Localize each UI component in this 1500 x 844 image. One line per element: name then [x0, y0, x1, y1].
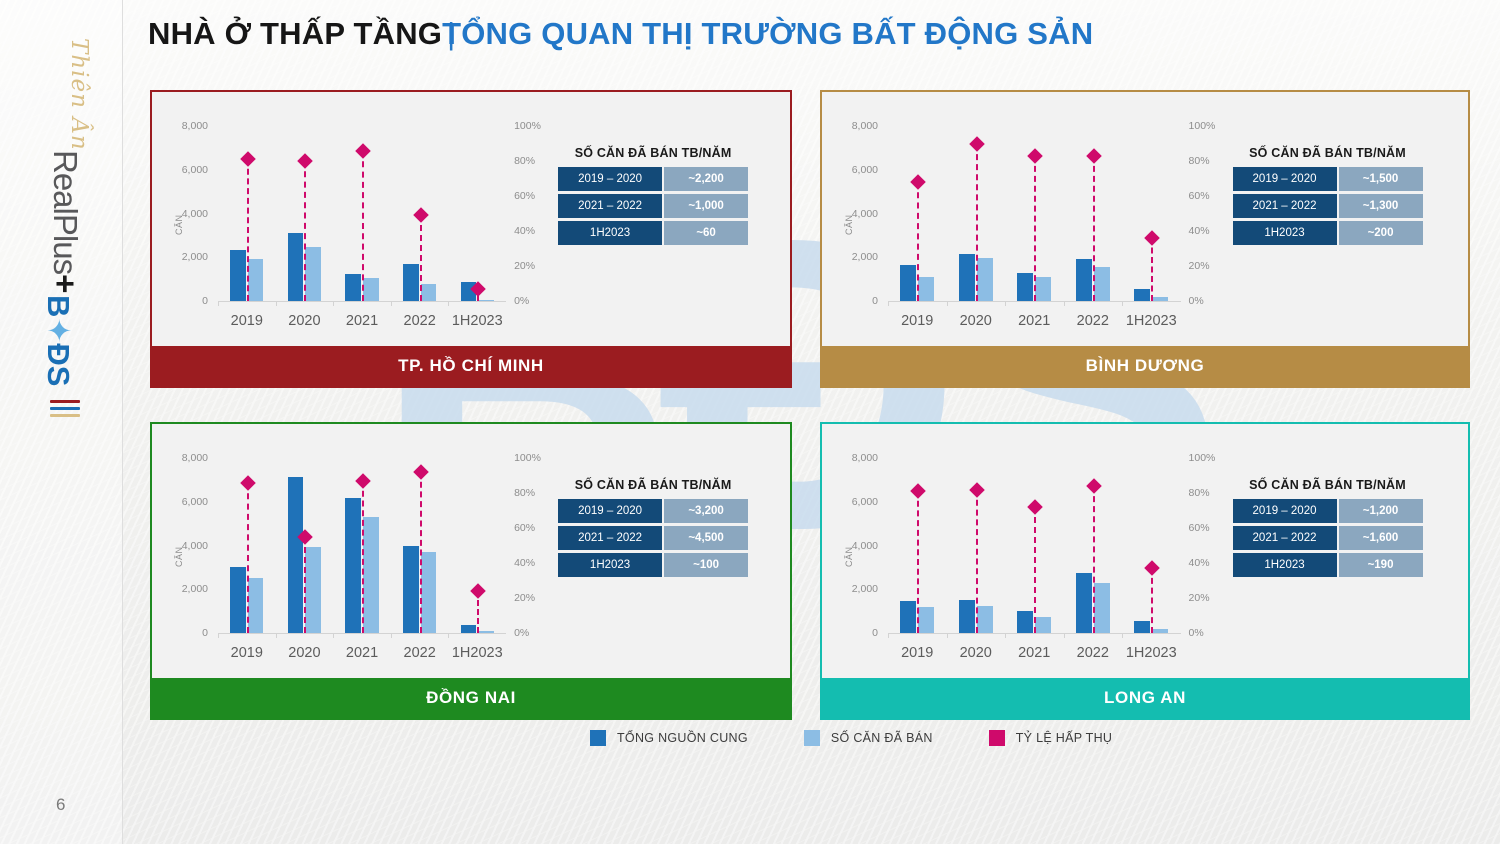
x-axis-tick-label: 2021	[346, 645, 378, 661]
x-axis-tick	[218, 301, 219, 306]
table-cell-period: 2021 – 2022	[558, 526, 662, 550]
y2-axis-tick-label: 40%	[1189, 557, 1229, 569]
y-axis-tick-label: 2,000	[832, 583, 878, 595]
bar-sold	[1152, 629, 1168, 633]
x-axis-tick	[947, 301, 948, 306]
y-axis-tick-label: 0	[832, 295, 878, 307]
absorption-marker	[355, 143, 371, 159]
bar-sold	[363, 517, 379, 633]
bar-sold	[421, 284, 437, 302]
bar-supply	[900, 265, 916, 301]
y2-axis-tick-label: 0%	[1189, 627, 1229, 639]
page-title: NHÀ Ở THẤP TẦNG|TỔNG QUAN THỊ TRƯỜNG BẤT…	[148, 16, 1093, 52]
absorption-stem	[304, 161, 306, 301]
square-swatch-supply	[590, 730, 606, 746]
bar-supply	[1076, 259, 1092, 301]
bar-sold	[305, 547, 321, 633]
bar-supply	[288, 233, 304, 301]
absorption-stem	[420, 215, 422, 301]
bar-sold	[478, 631, 494, 633]
page-title-divider: |	[442, 16, 460, 52]
y2-axis-tick-label: 60%	[1189, 190, 1229, 202]
bar-supply	[403, 546, 419, 633]
table-cell-value: ~4,500	[664, 526, 748, 550]
realplus-logo: RealPlus+	[46, 150, 84, 292]
table-cell-value: ~190	[1339, 553, 1423, 577]
bar-supply	[230, 250, 246, 301]
square-swatch-sold	[804, 730, 820, 746]
x-axis-tick	[448, 301, 449, 306]
y2-axis-tick-label: 40%	[514, 557, 554, 569]
table-cell-value: ~200	[1339, 221, 1423, 245]
bar-sold	[248, 578, 264, 633]
x-axis-tick-label: 2021	[1018, 645, 1050, 661]
absorption-marker	[298, 153, 314, 169]
table-row: 2019 – 2020~2,200	[558, 167, 748, 191]
y-axis-tick-label: 2,000	[162, 583, 208, 595]
square-swatch-absorption	[989, 730, 1005, 746]
bar-sold	[1094, 267, 1110, 301]
absorption-stem	[1093, 486, 1095, 633]
table-cell-value: ~3,200	[664, 499, 748, 523]
table-cell-value: ~2,200	[664, 167, 748, 191]
x-axis-tick-label: 2021	[346, 313, 378, 329]
x-axis-tick	[947, 633, 948, 638]
absorption-stem	[1093, 156, 1095, 301]
bar-sold	[363, 278, 379, 301]
y-axis-tick-label: 2,000	[832, 251, 878, 263]
avg-sold-table: SỐ CĂN ĐÃ BÁN TB/NĂM2019 – 2020~3,200202…	[558, 478, 748, 580]
bar-sold	[421, 552, 437, 633]
y-axis-tick-label: 6,000	[832, 496, 878, 508]
chart-title-long-an: LONG AN	[822, 678, 1468, 718]
absorption-stem	[1151, 568, 1153, 633]
bar-supply	[230, 567, 246, 633]
x-axis-baseline	[218, 301, 506, 302]
avg-sold-table-title: SỐ CĂN ĐÃ BÁN TB/NĂM	[1233, 146, 1423, 160]
table-cell-value: ~100	[664, 553, 748, 577]
x-axis-tick	[1064, 633, 1065, 638]
x-axis-tick-label: 2020	[960, 645, 992, 661]
absorption-marker	[969, 136, 985, 152]
absorption-stem	[1034, 156, 1036, 301]
y2-axis-tick-label: 0%	[1189, 295, 1229, 307]
bar-supply	[1134, 621, 1150, 633]
y-axis-tick-label: 8,000	[162, 452, 208, 464]
y-axis-tick-label: 8,000	[832, 452, 878, 464]
y-axis-tick-label: 2,000	[162, 251, 208, 263]
y-axis-tick-label: 4,000	[162, 540, 208, 552]
x-axis-tick	[391, 633, 392, 638]
bar-sold	[977, 258, 993, 301]
y2-axis-tick-label: 80%	[514, 155, 554, 167]
avg-sold-table: SỐ CĂN ĐÃ BÁN TB/NĂM2019 – 2020~1,200202…	[1233, 478, 1423, 580]
absorption-marker	[240, 475, 256, 491]
chart-title-dong-nai: ĐỒNG NAI	[152, 678, 790, 718]
y2-axis-tick-label: 100%	[1189, 120, 1229, 132]
bds-logo: B✦ĐS	[40, 295, 76, 386]
table-cell-value: ~1,000	[664, 194, 748, 218]
x-axis-tick	[888, 301, 889, 306]
table-cell-period: 2019 – 2020	[1233, 499, 1337, 523]
absorption-stem	[917, 182, 919, 301]
x-axis-baseline	[888, 633, 1181, 634]
absorption-marker	[1027, 148, 1043, 164]
y2-axis-tick-label: 20%	[514, 260, 554, 272]
absorption-stem	[1034, 507, 1036, 633]
signature-logo: Thiên Ân	[66, 38, 92, 151]
y-axis-tick-label: 6,000	[162, 496, 208, 508]
table-cell-period: 1H2023	[1233, 221, 1337, 245]
chart-legend: TỔNG NGUỒN CUNG SỐ CĂN ĐÃ BÁN TỶ LỆ HẤP …	[590, 730, 1112, 746]
y2-axis-tick-label: 20%	[1189, 260, 1229, 272]
x-axis-tick	[1122, 301, 1123, 306]
x-axis-tick	[1064, 301, 1065, 306]
y-axis-tick-label: 4,000	[162, 208, 208, 220]
x-axis-tick	[888, 633, 889, 638]
chart-plot-long-an: CĂN02,0004,0006,0008,0000%20%40%60%80%10…	[822, 424, 1468, 678]
avg-sold-table: SỐ CĂN ĐÃ BÁN TB/NĂM2019 – 2020~1,500202…	[1233, 146, 1423, 248]
bar-sold	[248, 259, 264, 301]
absorption-stem	[976, 144, 978, 302]
absorption-stem	[917, 491, 919, 633]
page-title-part1: NHÀ Ở THẤP TẦNG	[148, 16, 442, 51]
legend-item-absorption: TỶ LỆ HẤP THỤ	[989, 730, 1113, 746]
y-axis-tick-label: 4,000	[832, 208, 878, 220]
bar-supply	[345, 498, 361, 633]
y2-axis-tick-label: 100%	[1189, 452, 1229, 464]
bar-supply	[900, 601, 916, 633]
x-axis-tick-label: 2020	[960, 313, 992, 329]
x-axis-tick	[391, 301, 392, 306]
x-axis-tick-label: 1H2023	[452, 313, 503, 329]
bar-sold	[478, 300, 494, 301]
table-row: 1H2023~60	[558, 221, 748, 245]
page-title-part2: TỔNG QUAN THỊ TRƯỜNG BẤT ĐỘNG SẢN	[442, 16, 1093, 51]
star-icon: ✦	[41, 317, 76, 343]
table-row: 2019 – 2020~1,500	[1233, 167, 1423, 191]
absorption-stem	[420, 472, 422, 633]
x-axis-tick-label: 1H2023	[1126, 313, 1177, 329]
avg-sold-table-title: SỐ CĂN ĐÃ BÁN TB/NĂM	[558, 146, 748, 160]
x-axis-tick	[276, 301, 277, 306]
table-cell-value: ~1,600	[1339, 526, 1423, 550]
x-axis-tick-label: 1H2023	[452, 645, 503, 661]
table-cell-period: 2019 – 2020	[558, 499, 662, 523]
realplus-logo-text: RealPlus	[47, 150, 84, 274]
bar-sold	[1152, 297, 1168, 301]
absorption-stem	[247, 159, 249, 301]
bar-supply	[461, 625, 477, 633]
y-axis-tick-label: 0	[162, 295, 208, 307]
table-cell-value: ~60	[664, 221, 748, 245]
absorption-marker	[470, 583, 486, 599]
y-axis-tick-label: 6,000	[162, 164, 208, 176]
y2-axis-tick-label: 60%	[1189, 522, 1229, 534]
chart-panel-dong-nai[interactable]: CĂN02,0004,0006,0008,0000%20%40%60%80%10…	[150, 422, 792, 720]
x-axis-tick-label: 2022	[1077, 645, 1109, 661]
absorption-marker	[1086, 478, 1102, 494]
x-axis-tick-label: 2019	[231, 645, 263, 661]
y2-axis-tick-label: 20%	[514, 592, 554, 604]
table-cell-period: 2019 – 2020	[558, 167, 662, 191]
page-number: 6	[56, 795, 65, 815]
bar-supply	[288, 477, 304, 633]
bar-supply	[403, 264, 419, 301]
table-cell-period: 2021 – 2022	[1233, 194, 1337, 218]
table-row: 1H2023~190	[1233, 553, 1423, 577]
bar-sold	[1094, 583, 1110, 633]
bar-sold	[918, 277, 934, 301]
bar-sold	[977, 606, 993, 633]
x-axis-tick	[333, 633, 334, 638]
absorption-stem	[976, 490, 978, 634]
x-axis-tick	[333, 301, 334, 306]
x-axis-tick-label: 2022	[404, 313, 436, 329]
table-cell-period: 2019 – 2020	[1233, 167, 1337, 191]
y2-axis-tick-label: 80%	[1189, 155, 1229, 167]
x-axis-tick	[276, 633, 277, 638]
absorption-marker	[1086, 148, 1102, 164]
absorption-marker	[910, 174, 926, 190]
x-axis-tick-label: 2019	[901, 313, 933, 329]
stripe-mark	[50, 414, 80, 417]
absorption-marker	[1144, 230, 1160, 246]
x-axis-tick	[218, 633, 219, 638]
x-axis-tick	[1122, 633, 1123, 638]
chart-title-binh-duong: BÌNH DƯƠNG	[822, 346, 1468, 386]
x-axis-tick-label: 2021	[1018, 313, 1050, 329]
x-axis-tick-label: 2020	[288, 645, 320, 661]
avg-sold-table-title: SỐ CĂN ĐÃ BÁN TB/NĂM	[558, 478, 748, 492]
x-axis-baseline	[888, 301, 1181, 302]
absorption-stem	[362, 481, 364, 633]
x-axis-tick	[448, 633, 449, 638]
x-axis-tick-label: 2022	[1077, 313, 1109, 329]
absorption-marker	[969, 482, 985, 498]
y-axis-tick-label: 6,000	[832, 164, 878, 176]
bar-sold	[1035, 617, 1051, 633]
x-axis-tick-label: 2019	[901, 645, 933, 661]
chart-plot-dong-nai: CĂN02,0004,0006,0008,0000%20%40%60%80%10…	[152, 424, 790, 678]
legend-label-supply: TỔNG NGUỒN CUNG	[617, 731, 748, 745]
y2-axis-tick-label: 80%	[1189, 487, 1229, 499]
y-axis-tick-label: 8,000	[832, 120, 878, 132]
legend-item-supply: TỔNG NGUỒN CUNG	[590, 730, 748, 746]
y-axis-tick-label: 8,000	[162, 120, 208, 132]
stripe-mark	[50, 400, 80, 403]
chart-plot-hcm: CĂN02,0004,0006,0008,0000%20%40%60%80%10…	[152, 92, 790, 346]
legend-label-sold: SỐ CĂN ĐÃ BÁN	[831, 731, 933, 745]
absorption-stem	[362, 151, 364, 302]
avg-sold-table: SỐ CĂN ĐÃ BÁN TB/NĂM2019 – 2020~2,200202…	[558, 146, 748, 248]
table-row: 2021 – 2022~1,300	[1233, 194, 1423, 218]
absorption-stem	[1151, 238, 1153, 301]
y2-axis-tick-label: 80%	[514, 487, 554, 499]
table-cell-period: 2021 – 2022	[558, 194, 662, 218]
table-cell-value: ~1,200	[1339, 499, 1423, 523]
table-cell-value: ~1,500	[1339, 167, 1423, 191]
realplus-plus-icon: +	[47, 274, 84, 292]
legend-label-absorption: TỶ LỆ HẤP THỤ	[1016, 731, 1113, 745]
chart-panel-long-an[interactable]: CĂN02,0004,0006,0008,0000%20%40%60%80%10…	[820, 422, 1470, 720]
table-cell-period: 1H2023	[558, 553, 662, 577]
bar-supply	[345, 274, 361, 301]
bar-supply	[1017, 611, 1033, 633]
x-axis-tick-label: 1H2023	[1126, 645, 1177, 661]
chart-title-hcm: TP. HỒ CHÍ MINH	[152, 346, 790, 386]
stripe-mark	[50, 407, 80, 410]
left-sidebar: Thiên Ân RealPlus+ B✦ĐS 6	[0, 0, 123, 844]
chart-panel-binh-duong[interactable]: CĂN02,0004,0006,0008,0000%20%40%60%80%10…	[820, 90, 1470, 388]
x-axis-tick-label: 2020	[288, 313, 320, 329]
absorption-marker	[1027, 499, 1043, 515]
x-axis-tick	[1005, 301, 1006, 306]
absorption-stem	[304, 537, 306, 633]
stripe-marks	[50, 400, 80, 444]
absorption-marker	[910, 483, 926, 499]
table-row: 2021 – 2022~4,500	[558, 526, 748, 550]
chart-plot-binh-duong: CĂN02,0004,0006,0008,0000%20%40%60%80%10…	[822, 92, 1468, 346]
chart-panel-hcm[interactable]: CĂN02,0004,0006,0008,0000%20%40%60%80%10…	[150, 90, 792, 388]
y2-axis-tick-label: 60%	[514, 522, 554, 534]
absorption-stem	[247, 483, 249, 634]
absorption-marker	[355, 473, 371, 489]
bds-logo-right: ĐS	[41, 343, 76, 386]
table-cell-period: 1H2023	[1233, 553, 1337, 577]
bar-supply	[1076, 573, 1092, 633]
bar-supply	[1017, 273, 1033, 301]
table-row: 1H2023~200	[1233, 221, 1423, 245]
y2-axis-tick-label: 0%	[514, 627, 554, 639]
table-cell-period: 2021 – 2022	[1233, 526, 1337, 550]
x-axis-tick-label: 2019	[231, 313, 263, 329]
x-axis-baseline	[218, 633, 506, 634]
absorption-marker	[413, 464, 429, 480]
x-axis-tick	[1005, 633, 1006, 638]
y2-axis-tick-label: 60%	[514, 190, 554, 202]
bar-sold	[1035, 277, 1051, 301]
table-cell-period: 1H2023	[558, 221, 662, 245]
y2-axis-tick-label: 100%	[514, 452, 554, 464]
bds-logo-left: B	[41, 295, 76, 317]
y2-axis-tick-label: 100%	[514, 120, 554, 132]
y2-axis-tick-label: 40%	[1189, 225, 1229, 237]
absorption-marker	[1144, 560, 1160, 576]
y2-axis-tick-label: 40%	[514, 225, 554, 237]
legend-item-sold: SỐ CĂN ĐÃ BÁN	[804, 730, 933, 746]
y2-axis-tick-label: 0%	[514, 295, 554, 307]
bar-sold	[305, 247, 321, 301]
table-row: 2019 – 2020~1,200	[1233, 499, 1423, 523]
bar-supply	[959, 254, 975, 301]
absorption-marker	[240, 151, 256, 167]
y-axis-tick-label: 0	[162, 627, 208, 639]
bar-sold	[918, 607, 934, 633]
table-cell-value: ~1,300	[1339, 194, 1423, 218]
table-row: 1H2023~100	[558, 553, 748, 577]
bar-supply	[959, 600, 975, 633]
y2-axis-tick-label: 20%	[1189, 592, 1229, 604]
table-row: 2021 – 2022~1,000	[558, 194, 748, 218]
table-row: 2019 – 2020~3,200	[558, 499, 748, 523]
bar-supply	[1134, 289, 1150, 301]
avg-sold-table-title: SỐ CĂN ĐÃ BÁN TB/NĂM	[1233, 478, 1423, 492]
absorption-marker	[413, 207, 429, 223]
y-axis-tick-label: 4,000	[832, 540, 878, 552]
x-axis-tick-label: 2022	[404, 645, 436, 661]
y-axis-tick-label: 0	[832, 627, 878, 639]
table-row: 2021 – 2022~1,600	[1233, 526, 1423, 550]
